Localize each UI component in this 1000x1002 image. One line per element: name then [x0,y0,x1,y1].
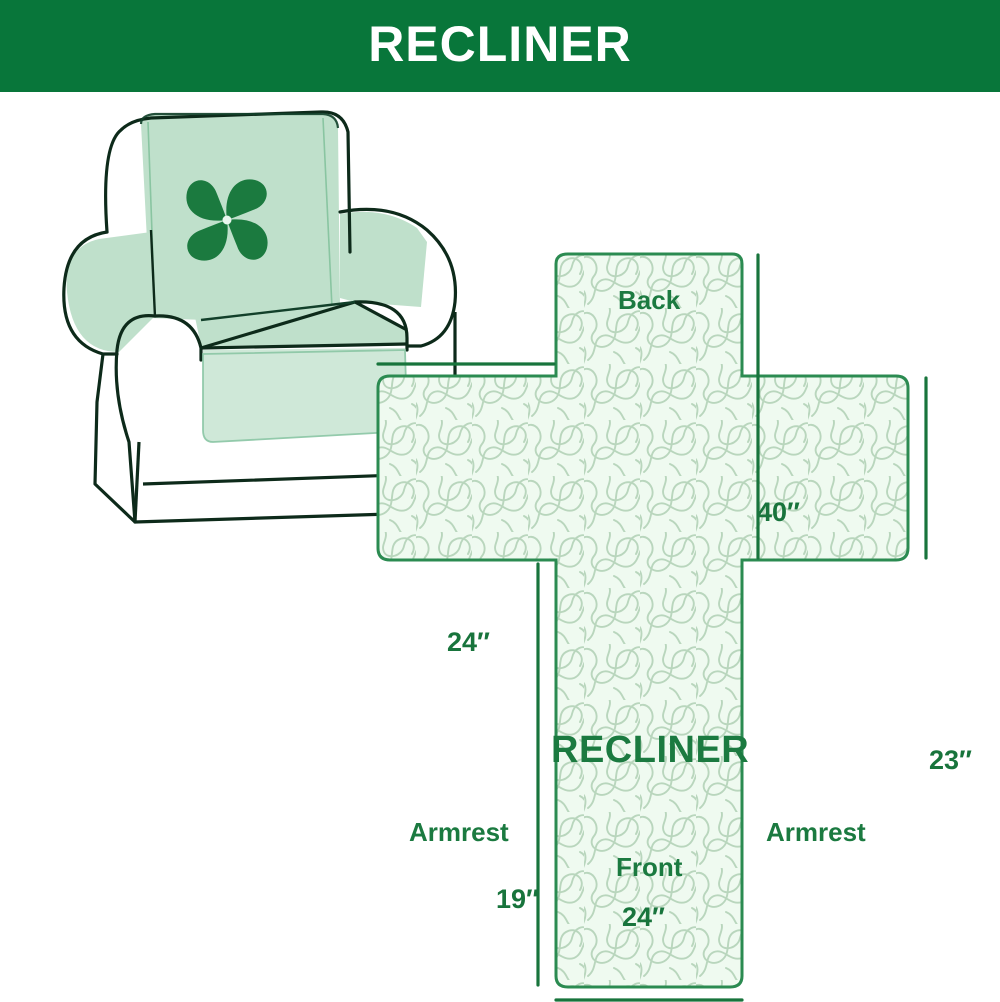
dimension-label-back-width: 24″ [447,627,490,658]
dimension-label-front-height: 19″ [496,884,539,915]
panel-label-front: Front [616,852,682,883]
chair-back-panel [141,113,340,324]
panel-label-armrest-left: Armrest [409,817,509,848]
chair-armrest-left-outer [67,232,155,352]
dimension-label-front-width: 24″ [622,902,665,933]
panel-label-center: RECLINER [551,729,749,772]
diagram-stage: Back Front Armrest Armrest RECLINER 40″ … [0,92,1000,1000]
header-bar: RECLINER [0,0,1000,92]
panel-label-back: Back [618,285,680,316]
panel-label-armrest-right: Armrest [766,817,866,848]
dimension-label-armrest-height: 23″ [929,745,972,776]
page-title: RECLINER [368,19,632,69]
dimension-label-back-height: 40″ [757,497,800,528]
